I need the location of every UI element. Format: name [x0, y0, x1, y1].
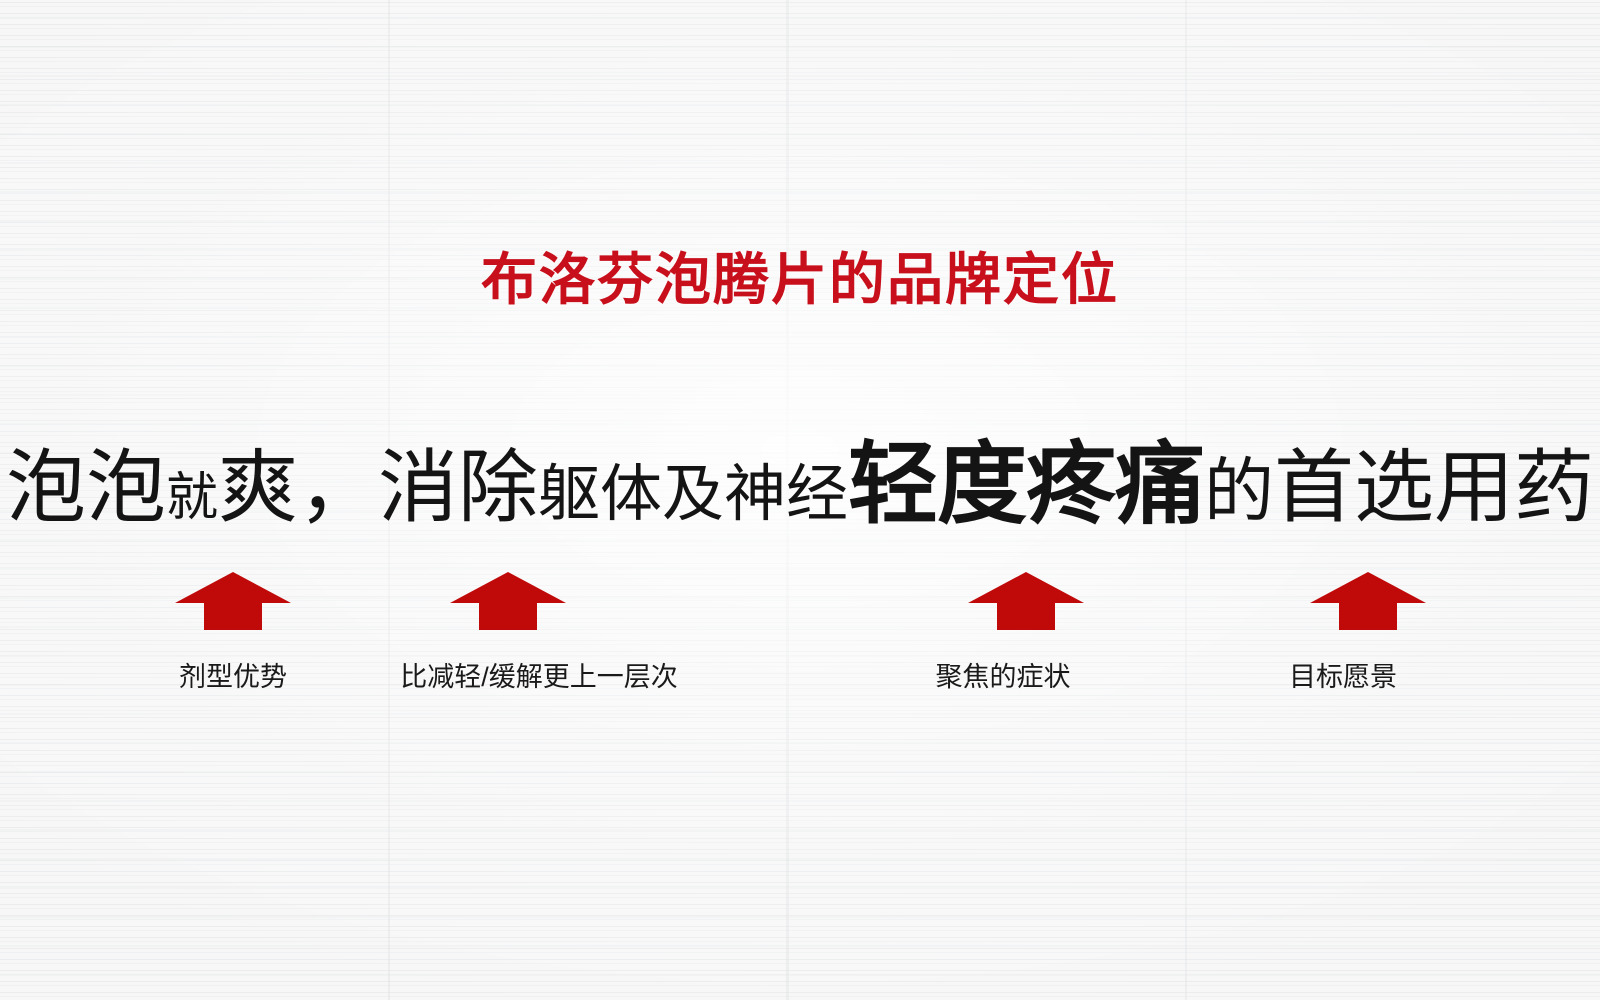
headline-segment-qingduteng: 轻度疼痛 [848, 440, 1204, 530]
headline-segment-paopao: 泡泡 [6, 448, 166, 528]
up-arrow-icon-efficacy [450, 570, 566, 630]
headline-segment-shuang: 爽 [218, 448, 298, 528]
headline-segment-qutijingshen: 躯体及神经 [538, 464, 848, 526]
annotation-label-dosage-form: 剂型优势 [113, 663, 353, 693]
slide-canvas: 布洛芬泡腾片的品牌定位 泡泡 就 爽 ， 消除 躯体及神经 轻度疼痛 的 首选用… [0, 0, 1600, 1000]
up-arrow-icon-vision [1310, 570, 1426, 630]
headline-segment-comma: ， [298, 448, 378, 528]
slide-title: 布洛芬泡腾片的品牌定位 [0, 252, 1600, 308]
headline-segment-xiaochu: 消除 [378, 448, 538, 528]
annotation-label-vision: 目标愿景 [1223, 663, 1463, 693]
up-arrow-icon-dosage-form [175, 570, 291, 630]
headline-segment-shouxuanyongyao: 首选用药 [1274, 448, 1594, 528]
headline-text: 泡泡 就 爽 ， 消除 躯体及神经 轻度疼痛 的 首选用药 [0, 440, 1600, 550]
annotation-label-efficacy: 比减轻/缓解更上一层次 [369, 663, 709, 693]
headline-segment-jiu: 就 [166, 472, 218, 524]
up-arrow-icon-symptom [968, 570, 1084, 630]
headline-segment-de: 的 [1204, 456, 1274, 526]
annotation-label-symptom: 聚焦的症状 [883, 663, 1123, 693]
